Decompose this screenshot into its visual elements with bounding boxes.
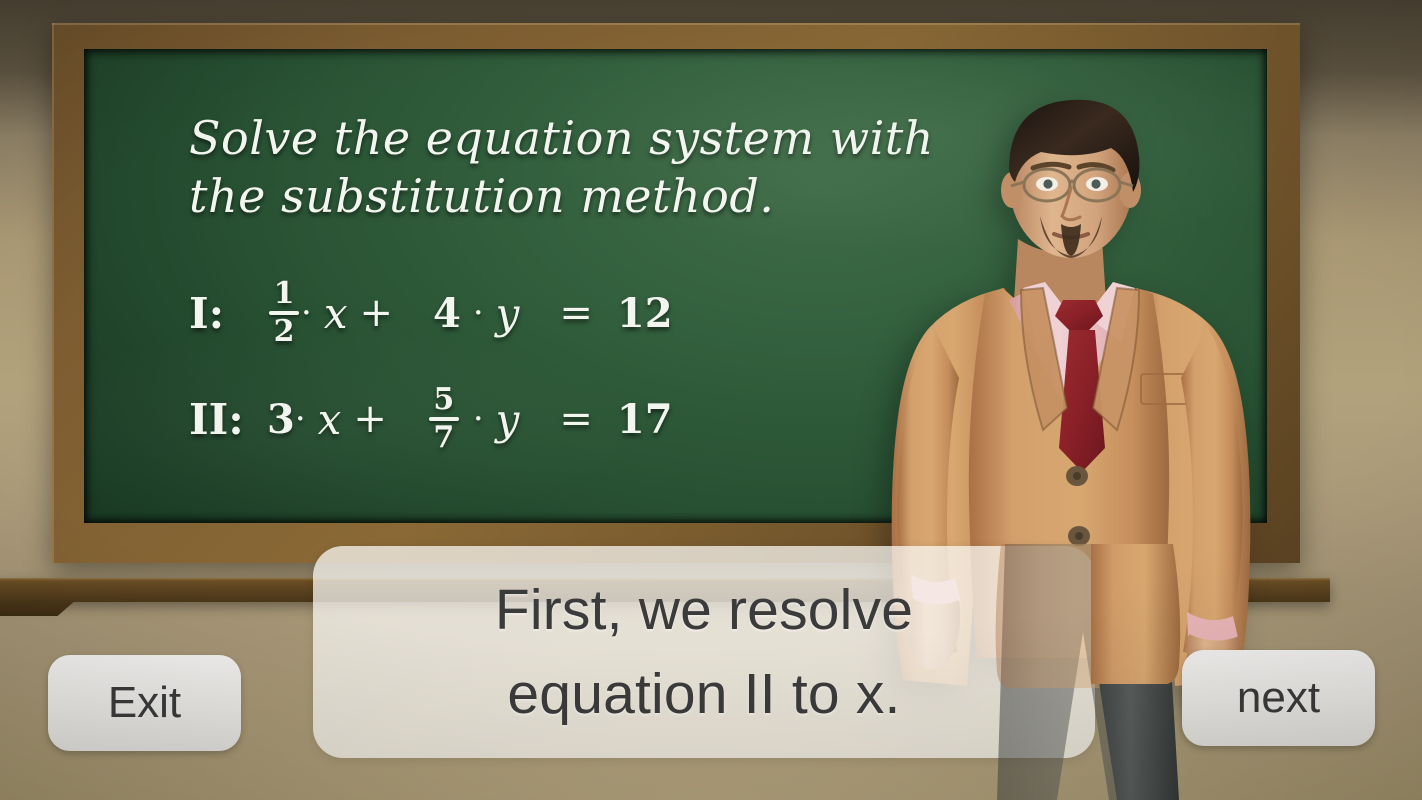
equation-2-dot-1: ·	[295, 402, 306, 436]
equation-2-fraction: 5 7	[429, 385, 459, 453]
next-button[interactable]: next	[1182, 650, 1375, 746]
equation-2-result: 17	[617, 396, 673, 443]
equation-1-denominator: 2	[271, 315, 298, 347]
equation-2-coeff-1: 3	[267, 396, 295, 443]
next-button-label: next	[1237, 673, 1320, 723]
dialog-text: First, we resolve equation II to x.	[313, 546, 1095, 758]
classroom-scene: Solve the equation system with the subst…	[0, 0, 1422, 800]
equation-1-var-2: y	[496, 289, 520, 338]
equation-1-equals: =	[559, 290, 593, 336]
equation-2-numerator: 5	[430, 385, 457, 417]
dialog-line-1: First, we resolve	[495, 568, 913, 652]
equation-1-coeff-2: 4	[433, 290, 461, 337]
equation-2-plus: +	[353, 396, 387, 442]
equation-1-plus: +	[360, 290, 394, 336]
equation-2-var-1: x	[318, 395, 342, 444]
head	[1001, 100, 1141, 258]
dialog-box: First, we resolve equation II to x.	[313, 546, 1095, 758]
equation-2-denominator: 7	[430, 421, 457, 453]
prompt-line-1: Solve the equation system with	[189, 109, 934, 167]
exit-button[interactable]: Exit	[48, 655, 241, 751]
equation-2-label: II:	[189, 395, 267, 444]
equation-1-fraction: 1 2	[269, 279, 299, 347]
blackboard-prompt: Solve the equation system with the subst…	[189, 109, 934, 225]
equation-2: II: 3 · x + 5 7 · y = 17	[189, 385, 673, 453]
equation-1: I: 1 2 · x + 4 · y = 12	[189, 279, 673, 347]
equation-2-dot-2: ·	[473, 402, 484, 436]
equation-2-var-2: y	[496, 395, 520, 444]
dialog-line-2: equation II to x.	[507, 652, 900, 736]
equation-1-result: 12	[617, 290, 673, 337]
equation-1-dot-1: ·	[301, 296, 312, 330]
equation-1-var-1: x	[324, 289, 348, 338]
equation-1-dot-2: ·	[473, 296, 484, 330]
equation-1-label: I:	[189, 289, 267, 338]
prompt-line-2: the substitution method.	[189, 167, 934, 225]
exit-button-label: Exit	[108, 678, 181, 728]
equation-1-numerator: 1	[271, 279, 298, 311]
equation-2-equals: =	[559, 396, 593, 442]
